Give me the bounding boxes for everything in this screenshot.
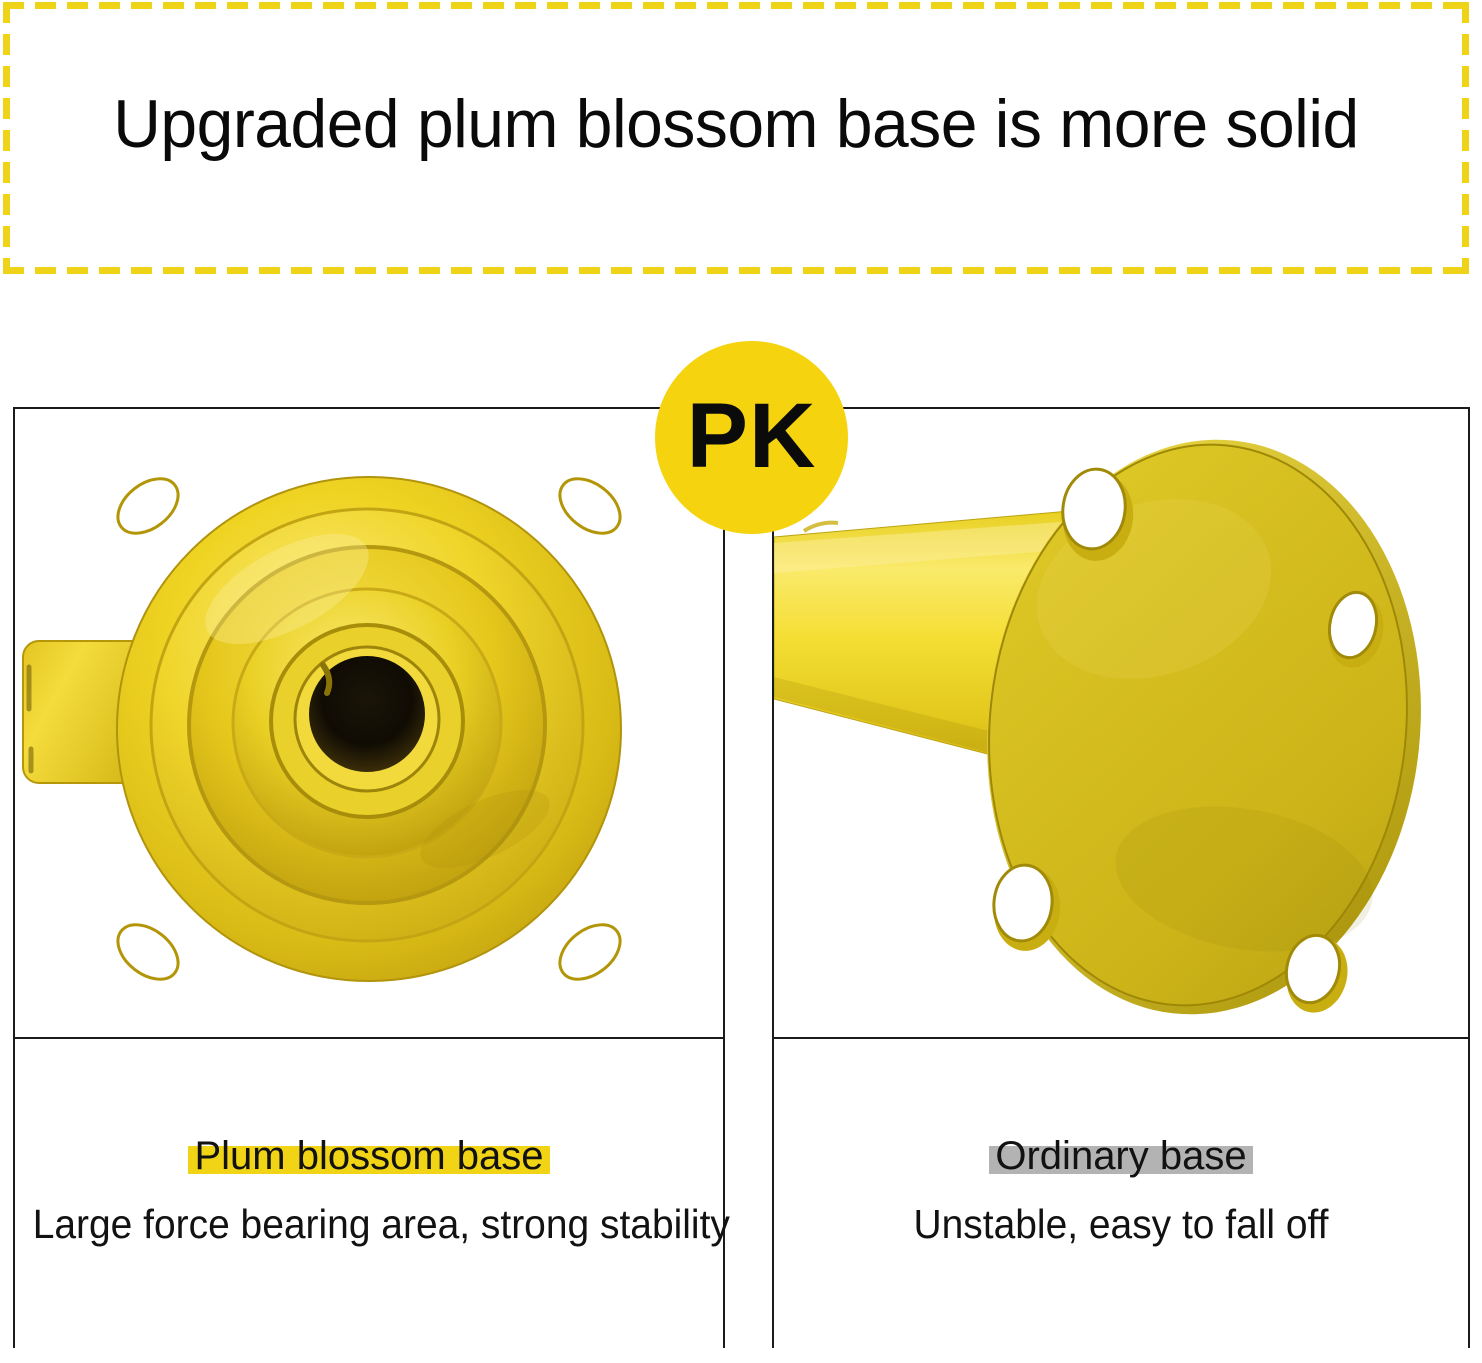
product-name-right: Ordinary base: [995, 1134, 1246, 1178]
versus-badge: PK: [655, 341, 848, 534]
caption-title-wrap-left: Plum blossom base: [194, 1136, 543, 1176]
product-description-left: Large force bearing area, strong stabili…: [33, 1204, 706, 1245]
ordinary-base-illustration: [774, 409, 1468, 1037]
banner-border-left: [3, 2, 10, 274]
page-title: Upgraded plum blossom base is more solid: [25, 90, 1447, 158]
banner-border-bottom: [3, 267, 1469, 274]
banner-border-right: [1462, 2, 1469, 274]
product-name-left: Plum blossom base: [194, 1134, 543, 1178]
product-photo-plum-blossom: [15, 409, 723, 1037]
header-banner: Upgraded plum blossom base is more solid: [3, 2, 1469, 274]
caption-title-wrap-right: Ordinary base: [995, 1136, 1246, 1176]
caption-ordinary: Ordinary base Unstable, easy to fall off: [774, 1039, 1468, 1348]
product-description-right: Unstable, easy to fall off: [791, 1204, 1450, 1245]
product-photo-ordinary: [774, 409, 1468, 1037]
plum-blossom-base-illustration: [15, 409, 723, 1037]
caption-plum-blossom: Plum blossom base Large force bearing ar…: [15, 1039, 723, 1348]
versus-badge-label: PK: [687, 390, 817, 482]
comparison-panel-ordinary: Ordinary base Unstable, easy to fall off: [772, 407, 1470, 1348]
base-body: [117, 477, 621, 981]
comparison-panel-plum-blossom: Plum blossom base Large force bearing ar…: [13, 407, 725, 1348]
banner-border-top: [3, 2, 1469, 9]
